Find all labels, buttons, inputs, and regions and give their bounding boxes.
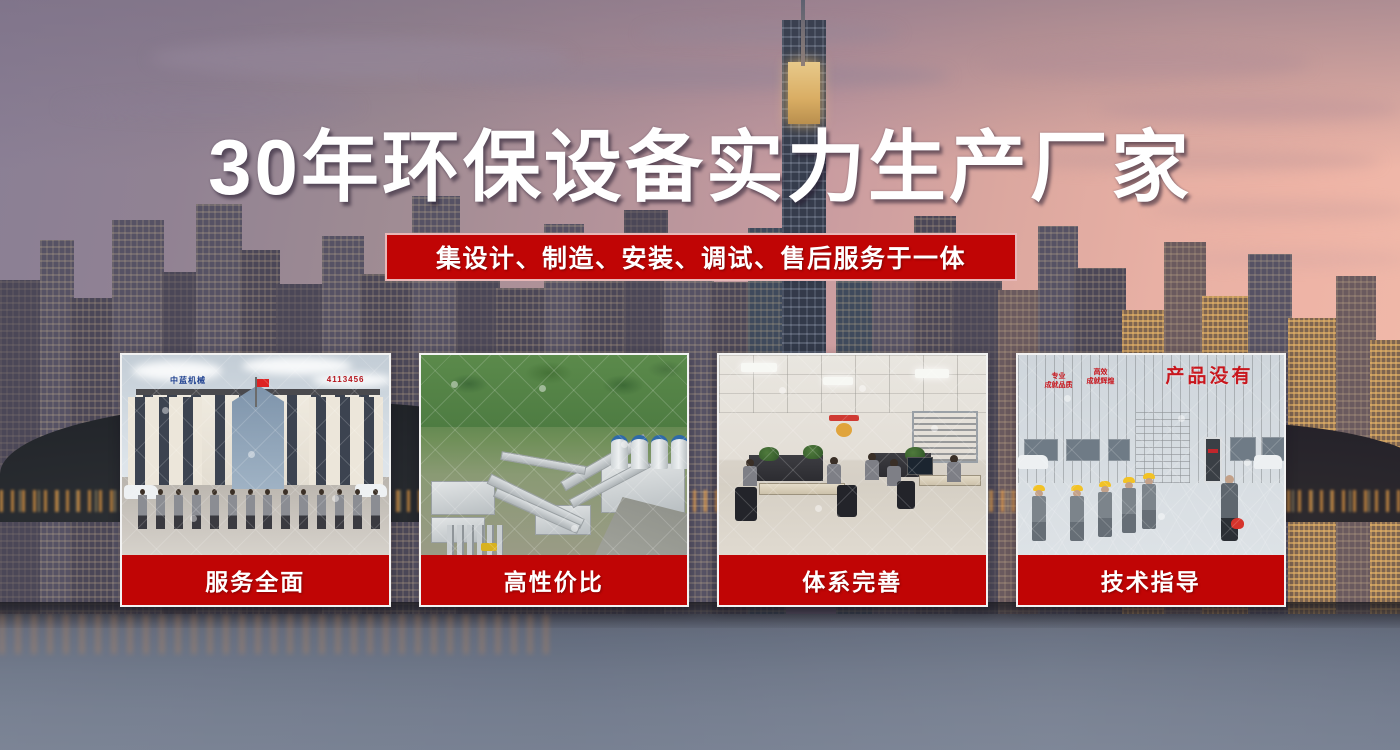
feature-card-caption: 体系完善 <box>719 555 986 605</box>
supervisor-figure <box>1221 475 1238 541</box>
feature-card[interactable]: 中蓝机械 4113456 <box>120 353 391 607</box>
feature-card-caption: 服务全面 <box>122 555 389 605</box>
building-sign-text: 中蓝机械 <box>170 375 206 386</box>
tower-spire <box>801 0 805 66</box>
company-headquarters-photo: 中蓝机械 4113456 <box>122 355 389 555</box>
factory-slogan-small: 专业成就品质 <box>1044 373 1074 391</box>
water-reflections <box>0 614 560 654</box>
staff-row <box>138 489 380 529</box>
hero-banner: 30年环保设备实力生产厂家 集设计、制造、安装、调试、售后服务于一体 中蓝机械 <box>0 0 1400 750</box>
factory-slogan-text: 产品没有 <box>1166 361 1254 388</box>
subtitle-banner-text: 集设计、制造、安装、调试、售后服务于一体 <box>436 239 966 275</box>
feature-card-caption: 高性价比 <box>421 555 688 605</box>
feature-card-row: 中蓝机械 4113456 <box>120 353 1286 607</box>
building-phone-text: 4113456 <box>327 375 365 384</box>
subtitle-banner: 集设计、制造、安装、调试、售后服务于一体 <box>385 233 1017 281</box>
feature-card[interactable]: 体系完善 <box>717 353 988 607</box>
feature-card-caption: 技术指导 <box>1018 555 1285 605</box>
office-interior-photo <box>719 355 986 555</box>
factory-slogan-small: 高效成就辉煌 <box>1084 369 1118 387</box>
worker-training-photo: 产品没有 专业成就品质 高效成就辉煌 <box>1018 355 1285 555</box>
tower-crown <box>788 62 820 124</box>
page-title: 30年环保设备实力生产厂家 <box>0 128 1400 206</box>
red-helmet <box>1231 518 1244 529</box>
aerial-production-plant-photo <box>421 355 688 555</box>
wall-emblem <box>827 415 861 445</box>
feature-card[interactable]: 高性价比 <box>419 353 690 607</box>
feature-card[interactable]: 产品没有 专业成就品质 高效成就辉煌 <box>1016 353 1287 607</box>
